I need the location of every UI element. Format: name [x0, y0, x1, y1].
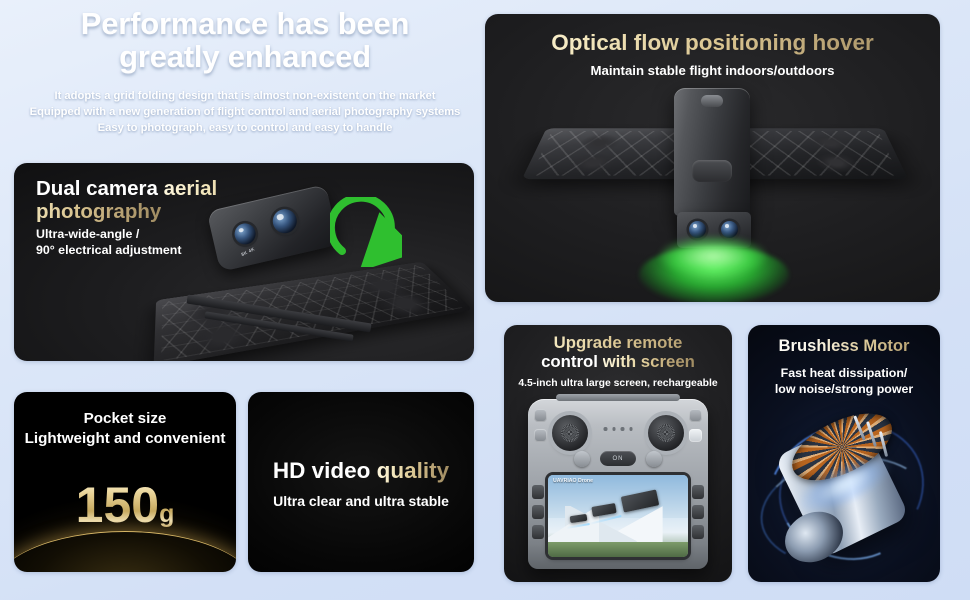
weight-value-display: 150g: [14, 480, 236, 530]
screen-terrain: [548, 542, 688, 557]
right-control-stick[interactable]: [648, 415, 684, 451]
header-subtitle: It adopts a grid folding design that is …: [0, 88, 490, 137]
screen-right-button-down[interactable]: [692, 505, 704, 519]
panel-remote-control: Upgrade remote control with screen 4.5-i…: [504, 325, 732, 582]
remote-side-button-return[interactable]: [689, 409, 702, 422]
remote-control-title-line2: control with screen: [504, 353, 732, 372]
dual-camera-subtitle-line1: Ultra-wide-angle /: [36, 226, 181, 242]
drone-grid-frame-icon: [154, 262, 474, 361]
header-block: Performance has been greatly enhanced It…: [0, 8, 490, 136]
panel-optical-flow: Optical flow positioning hover Maintain …: [485, 14, 940, 302]
panel-pocket-size: Pocket size Lightweight and convenient 1…: [14, 392, 236, 572]
screen-right-button-up[interactable]: [692, 485, 704, 499]
screen-left-button-3[interactable]: [532, 525, 544, 539]
brushless-motor-subtitle: Fast heat dissipation/ low noise/strong …: [748, 365, 940, 397]
remote-controller-illustration: ON UAVRIAO Drone: [528, 399, 708, 569]
pocket-size-subtitle-line2: Lightweight and convenient: [14, 429, 236, 449]
remote-power-switch[interactable]: ON: [600, 451, 636, 466]
led-dot: [612, 427, 616, 431]
dual-camera-title: Dual camera aerial photography: [36, 178, 276, 224]
screen-mountains: [548, 506, 688, 544]
infographic-canvas: Performance has been greatly enhanced It…: [0, 0, 970, 600]
screen-right-button-menu[interactable]: [692, 525, 704, 539]
weight-number: 150: [76, 477, 159, 533]
remote-control-title: Upgrade remote control with screen: [504, 334, 732, 372]
optical-flow-subtitle: Maintain stable flight indoors/outdoors: [485, 62, 940, 79]
optical-flow-drone-illustration: [535, 88, 895, 293]
page-title: Performance has been greatly enhanced: [0, 8, 490, 74]
hd-video-subtitle: Ultra clear and ultra stable: [248, 492, 474, 510]
remote-display-screen[interactable]: UAVRIAO Drone: [548, 475, 688, 557]
weight-unit: g: [159, 500, 174, 528]
status-led-indicators: [604, 427, 633, 431]
remote-control-title-line2-white: control: [541, 352, 603, 371]
remote-side-button-photo[interactable]: [534, 409, 547, 422]
drone-power-button-icon: [701, 95, 723, 107]
gold-arc-decoration: [14, 531, 236, 572]
brushless-motor-illustration: [762, 413, 926, 571]
panel-brushless-motor: Brushless Motor Fast heat dissipation/ l…: [748, 325, 940, 582]
panel-hd-video: HD video quality Ultra clear and ultra s…: [248, 392, 474, 572]
remote-mode-button[interactable]: [574, 451, 590, 467]
led-dot: [629, 427, 633, 431]
page-title-line1: Performance has been: [81, 6, 410, 41]
dual-camera-subtitle-line2: 90° electrical adjustment: [36, 242, 181, 258]
power-switch-label: ON: [613, 456, 624, 462]
drone-fuselage: [674, 88, 750, 216]
dual-camera-subtitle: Ultra-wide-angle / 90° electrical adjust…: [36, 226, 181, 258]
rotation-arrow-icon: [330, 197, 402, 267]
hd-video-title: HD video quality: [248, 458, 474, 483]
screen-osd-label: UAVRIAO Drone: [553, 478, 593, 484]
camera-brand-badge: 8K 4K: [240, 246, 255, 257]
remote-control-subtitle: 4.5-inch ultra large screen, rechargeabl…: [504, 377, 732, 391]
page-title-line2: greatly enhanced: [0, 41, 490, 74]
header-subtitle-line1: It adopts a grid folding design that is …: [0, 88, 490, 104]
screen-left-button-1[interactable]: [532, 485, 544, 499]
remote-settings-button[interactable]: [646, 451, 662, 467]
brushless-motor-title: Brushless Motor: [748, 337, 940, 356]
hd-video-title-white: HD video: [273, 458, 377, 483]
optical-flow-green-beam-core: [659, 236, 767, 276]
optical-flow-title: Optical flow positioning hover: [485, 30, 940, 55]
remote-antenna-bar: [556, 394, 680, 401]
pocket-size-subtitle-line1: Pocket size: [14, 409, 236, 429]
header-subtitle-line3: Easy to photograph, easy to control and …: [0, 120, 490, 136]
remote-control-title-line1: Upgrade remote: [504, 334, 732, 353]
left-control-stick[interactable]: [552, 415, 588, 451]
remote-control-title-line2-gold: with screen: [603, 352, 695, 371]
hd-video-title-gold: quality: [377, 458, 450, 483]
remote-side-button-video[interactable]: [534, 429, 547, 442]
camera-lens-icon: [233, 221, 258, 246]
drone-body-panel: [692, 160, 732, 182]
brushless-motor-subtitle-line1: Fast heat dissipation/: [748, 365, 940, 381]
remote-side-button-white[interactable]: [689, 429, 702, 442]
screen-left-button-2[interactable]: [532, 505, 544, 519]
dual-camera-title-white: Dual camera: [36, 177, 164, 200]
brushless-motor-subtitle-line2: low noise/strong power: [748, 381, 940, 397]
pocket-size-subtitle: Pocket size Lightweight and convenient: [14, 409, 236, 449]
panel-dual-camera: 8K 4K Dual camera aerial photography Ult…: [14, 163, 474, 361]
header-subtitle-line2: Equipped with a new generation of flight…: [0, 104, 490, 120]
led-dot: [604, 427, 608, 431]
led-dot: [621, 427, 625, 431]
